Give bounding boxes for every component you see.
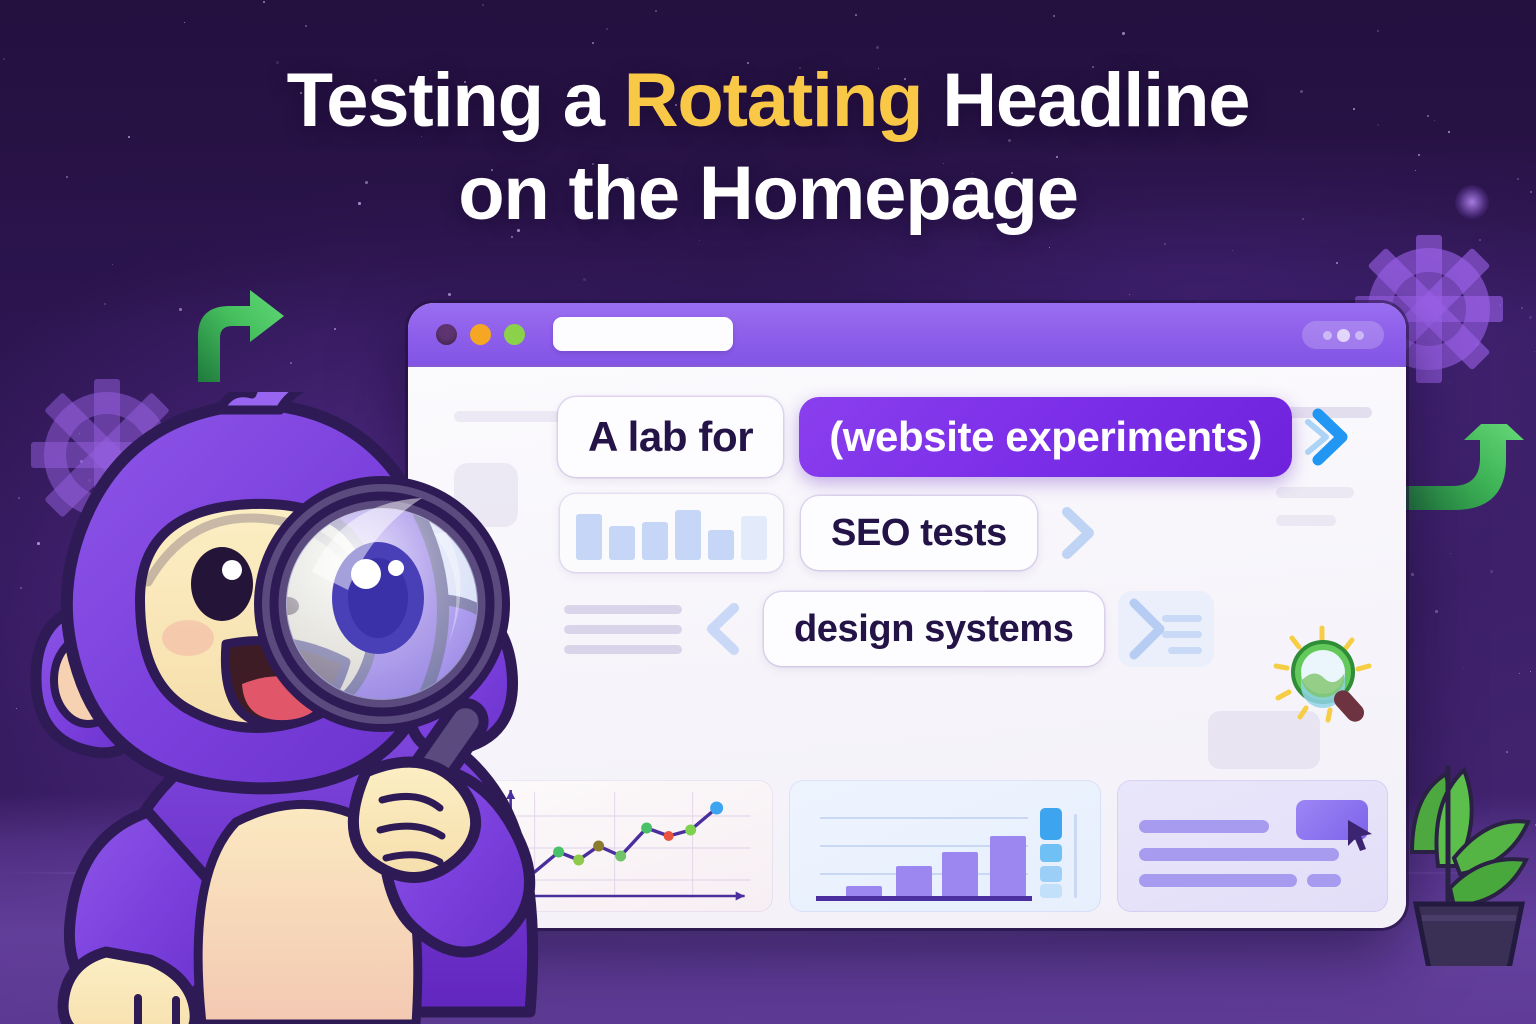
- account-menu-pill[interactable]: [1302, 321, 1384, 349]
- url-input[interactable]: [553, 317, 733, 351]
- content-line: [1139, 820, 1269, 833]
- maximize-button[interactable]: [504, 324, 525, 345]
- chevron-right-icon[interactable]: [1051, 502, 1103, 564]
- title-part-pre: Testing a: [287, 58, 624, 143]
- green-magnifier-icon: [1268, 622, 1384, 734]
- browser-titlebar: [408, 303, 1406, 367]
- title-part-post: Headline: [922, 58, 1249, 143]
- chevron-left-icon[interactable]: [698, 598, 750, 660]
- green-curved-arrow-icon: [176, 288, 286, 384]
- content-line: [1307, 874, 1341, 887]
- rotating-phrase-pill[interactable]: (website experiments): [799, 397, 1292, 477]
- rotating-phrase-pill[interactable]: SEO tests: [801, 496, 1037, 570]
- page-title: Testing a Rotating Headline on the Homep…: [0, 54, 1536, 241]
- chevron-right-icon[interactable]: [1304, 406, 1356, 468]
- bar-chart-panel: [789, 780, 1101, 912]
- content-line: [1139, 848, 1339, 861]
- minimize-button[interactable]: [470, 324, 491, 345]
- potted-plant-icon: [1398, 726, 1536, 966]
- account-dot-icon: [1337, 329, 1350, 342]
- rotating-phrase-pill[interactable]: design systems: [764, 592, 1104, 666]
- title-line-1: Testing a Rotating Headline: [0, 54, 1536, 147]
- content-card-panel: [1117, 780, 1388, 912]
- title-part-highlight: Rotating: [624, 58, 923, 143]
- content-line: [1139, 874, 1297, 887]
- account-dot-icon: [1323, 331, 1332, 340]
- title-line-2: on the Homepage: [0, 147, 1536, 240]
- traffic-lights: [436, 324, 525, 345]
- monkey-mascot: [30, 392, 630, 1024]
- poster-canvas: Testing a Rotating Headline on the Homep…: [0, 0, 1536, 1024]
- chevron-right-list-icon[interactable]: [1118, 591, 1214, 667]
- green-curved-arrow-icon: [1394, 424, 1536, 534]
- close-button[interactable]: [436, 324, 457, 345]
- account-dot-icon: [1355, 331, 1364, 340]
